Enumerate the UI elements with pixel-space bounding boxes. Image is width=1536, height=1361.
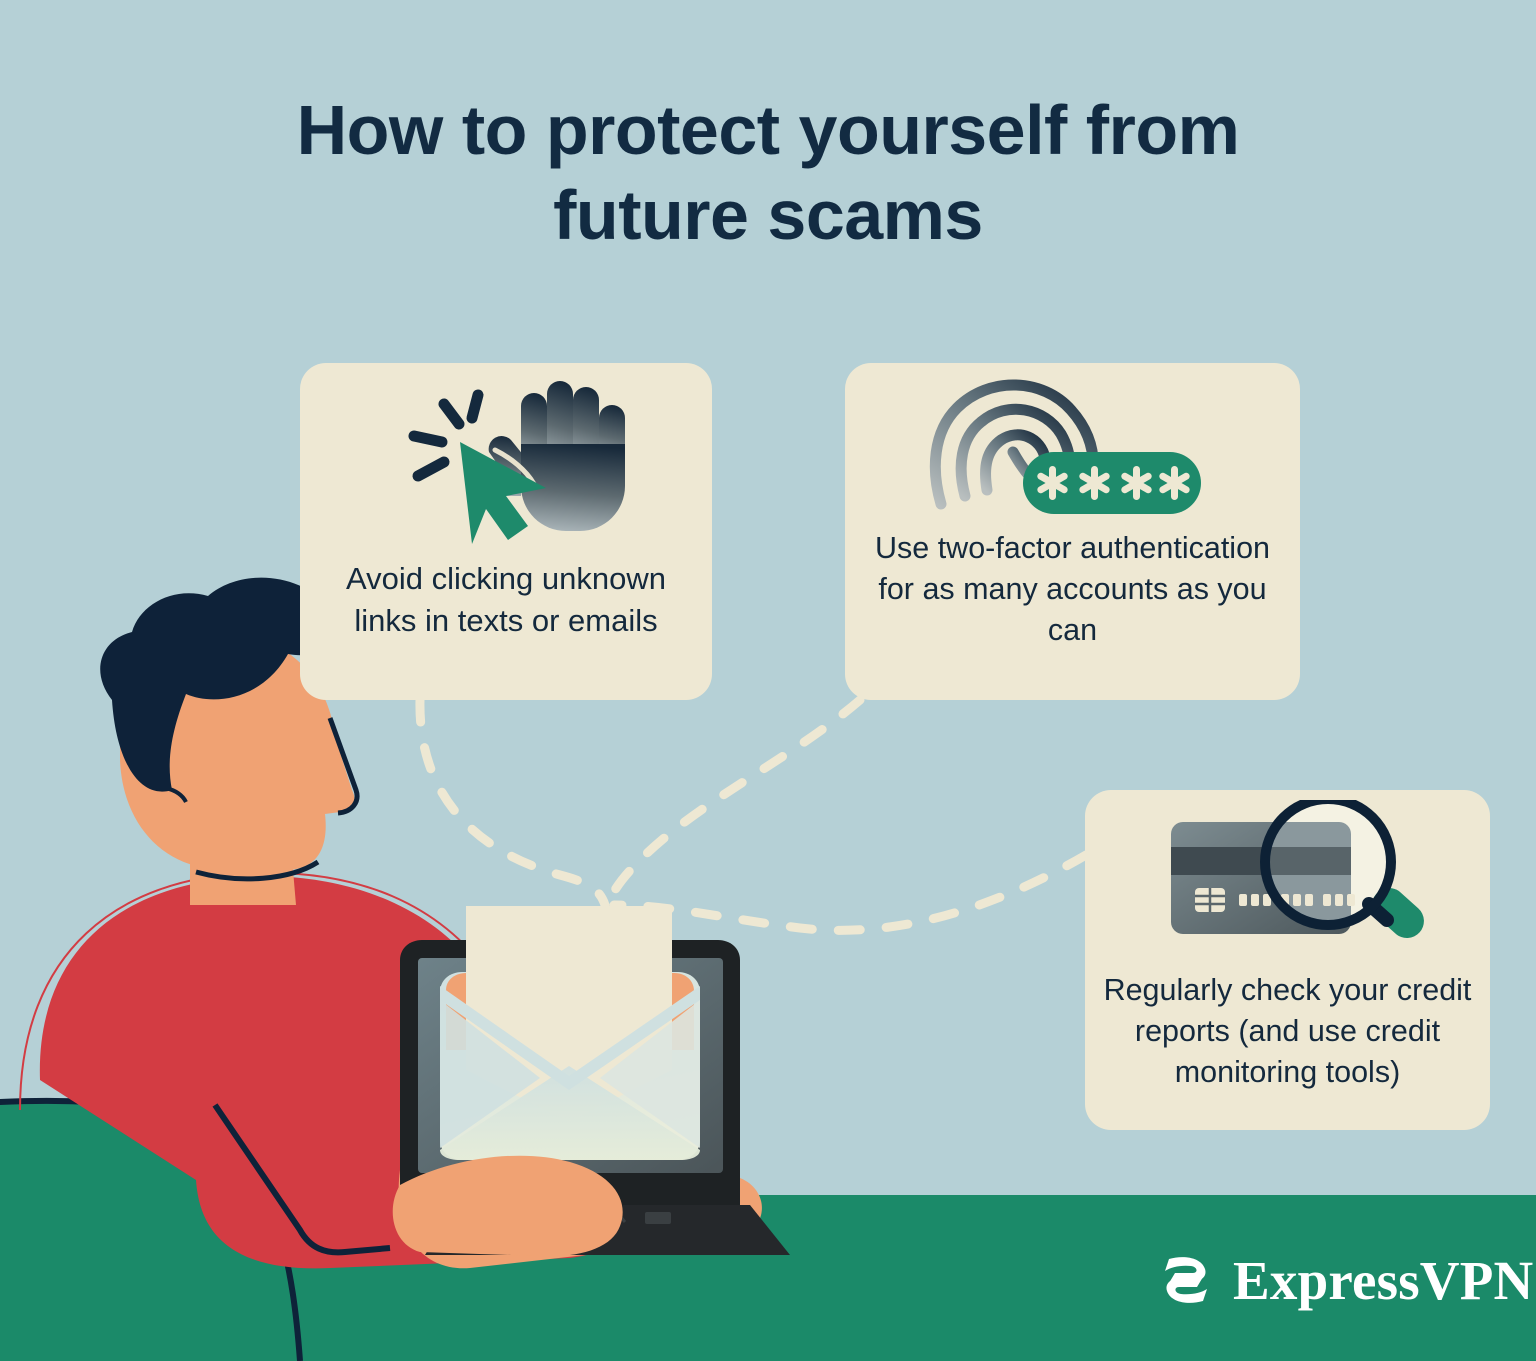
card-label: Avoid clicking unknown links in texts or…: [300, 558, 712, 641]
brand-name: ExpressVPN: [1233, 1253, 1533, 1308]
expressvpn-e-mark-icon: [1155, 1249, 1217, 1311]
open-envelope-icon: [440, 972, 700, 1160]
card-label: Regularly check your credit reports (and…: [1085, 970, 1490, 1093]
letter-sheet: [466, 906, 672, 1122]
neck: [190, 835, 296, 905]
infographic-canvas: How to protect yourself from future scam…: [0, 0, 1536, 1361]
expressvpn-logo[interactable]: ExpressVPN: [1155, 1249, 1533, 1311]
card-two-factor[interactable]: Use two-factor authentication for as man…: [845, 363, 1300, 700]
card-avoid-links[interactable]: Avoid clicking unknown links in texts or…: [300, 363, 712, 700]
card-credit-reports[interactable]: Regularly check your credit reports (and…: [1085, 790, 1490, 1130]
laptop-lid: [400, 940, 740, 1205]
ear: [150, 768, 190, 818]
page-title: How to protect yourself from future scam…: [0, 88, 1536, 259]
cursor-click-stop-hand-icon: [300, 363, 712, 558]
card-label: Use two-factor authentication for as man…: [845, 528, 1300, 651]
credit-card-magnifier-icon: [1085, 790, 1490, 970]
fingerprint-password-icon: [845, 363, 1300, 528]
laptop-screen: [418, 958, 723, 1173]
